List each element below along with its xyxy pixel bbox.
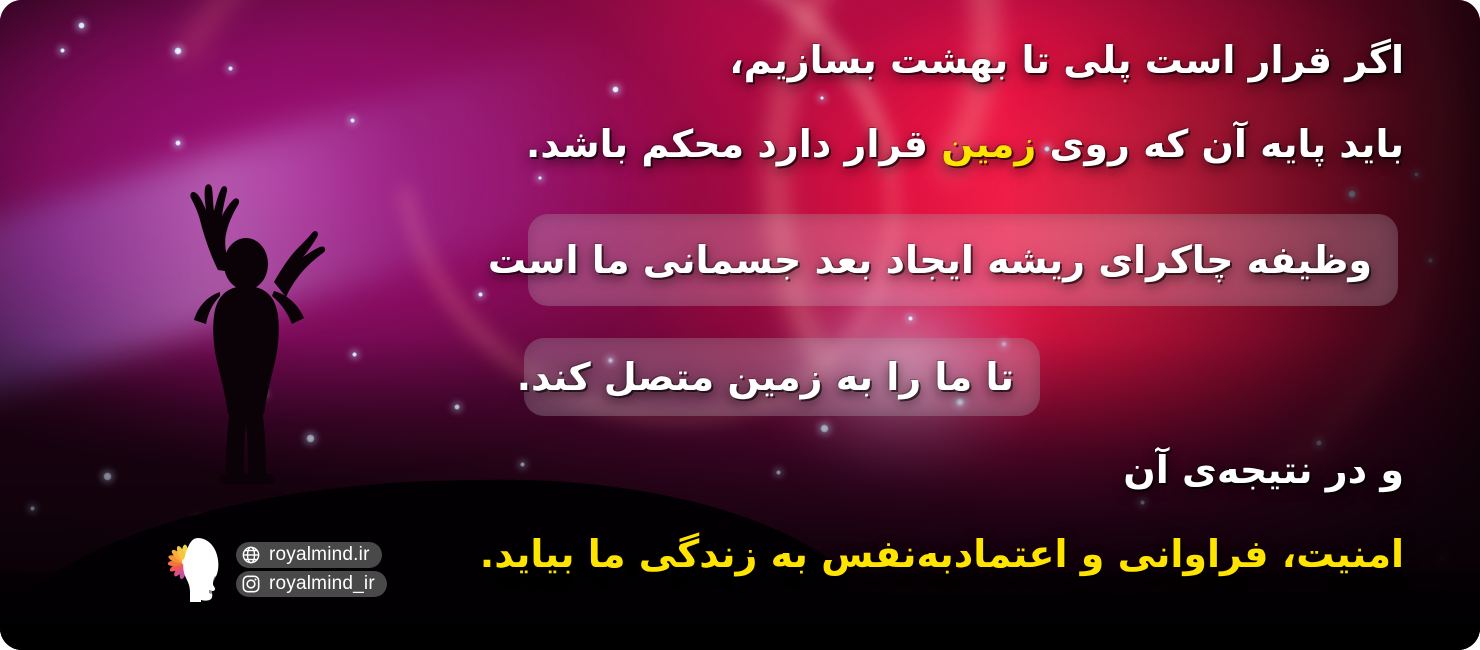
instagram-handle-text: royalmind_ir xyxy=(269,573,375,595)
social-handles: royalmind.ir royalmind_ir xyxy=(236,542,387,597)
quote-card: اگر قرار است پلی تا بهشت بسازیم، باید پا… xyxy=(0,0,1480,650)
website-handle-text: royalmind.ir xyxy=(269,544,370,566)
royal-mind-head-logo xyxy=(168,536,224,602)
person-arms-raised-silhouette xyxy=(150,154,340,484)
brand-block: royalmind.ir royalmind_ir xyxy=(168,536,387,602)
instagram-icon xyxy=(241,574,261,594)
instagram-handle-pill[interactable]: royalmind_ir xyxy=(236,571,387,597)
globe-icon xyxy=(241,545,261,565)
website-handle-pill[interactable]: royalmind.ir xyxy=(236,542,382,568)
